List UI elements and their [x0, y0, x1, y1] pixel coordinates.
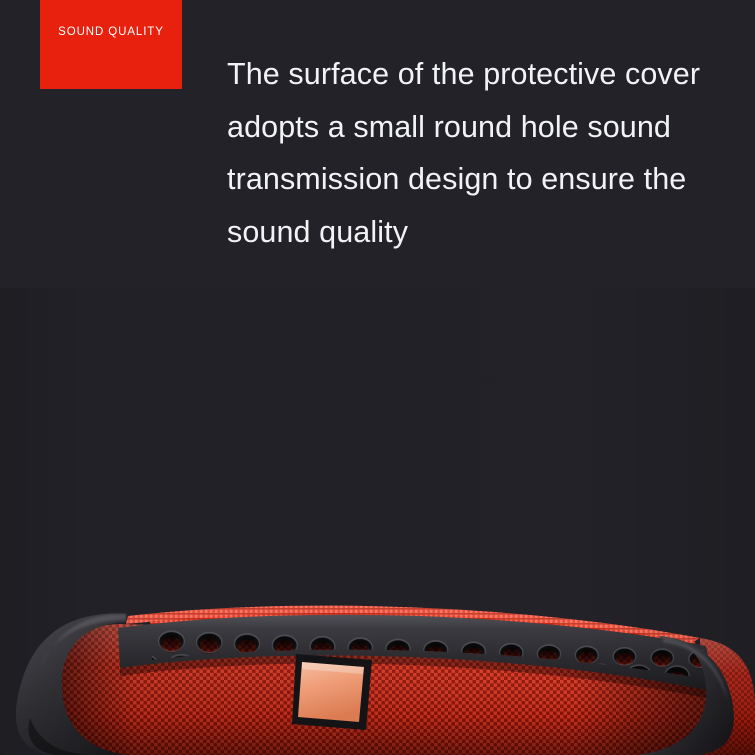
product-feature-image: SOUND QUALITY The surface of the protect…: [0, 0, 755, 755]
headline-line-2: adopts a small round hole sound: [227, 101, 747, 154]
category-badge-label: SOUND QUALITY: [40, 26, 182, 38]
headline: The surface of the protective cover adop…: [227, 48, 747, 258]
headline-line-3: transmission design to ensure the: [227, 153, 747, 206]
headline-line-4: sound quality: [227, 206, 747, 259]
category-badge: SOUND QUALITY: [40, 0, 182, 89]
headline-line-1: The surface of the protective cover: [227, 48, 747, 101]
product-image: [0, 288, 755, 755]
